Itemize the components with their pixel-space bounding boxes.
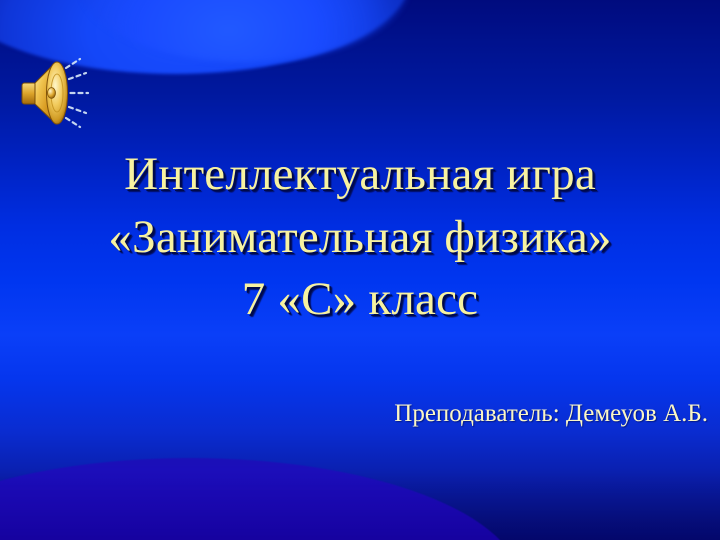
presentation-slide: Интеллектуальная игра «Занимательная физ… — [0, 0, 720, 540]
title-line-3: 7 «С» класс — [34, 268, 686, 331]
speaker-icon[interactable] — [18, 52, 100, 134]
subtitle-line-1: Преподаватель: Демеуов А.Б. — [240, 398, 708, 429]
bottom-vignette — [0, 470, 720, 540]
bottom-left-ellipse-decoration — [0, 458, 520, 540]
title-line-1: Интеллектуальная игра — [34, 143, 686, 206]
slide-subtitle: Преподаватель: Демеуов А.Б. — [240, 398, 708, 429]
title-line-2: «Занимательная физика» — [34, 206, 686, 269]
top-left-ellipse-highlight — [80, 0, 410, 62]
slide-title: Интеллектуальная игра «Занимательная физ… — [34, 143, 686, 331]
